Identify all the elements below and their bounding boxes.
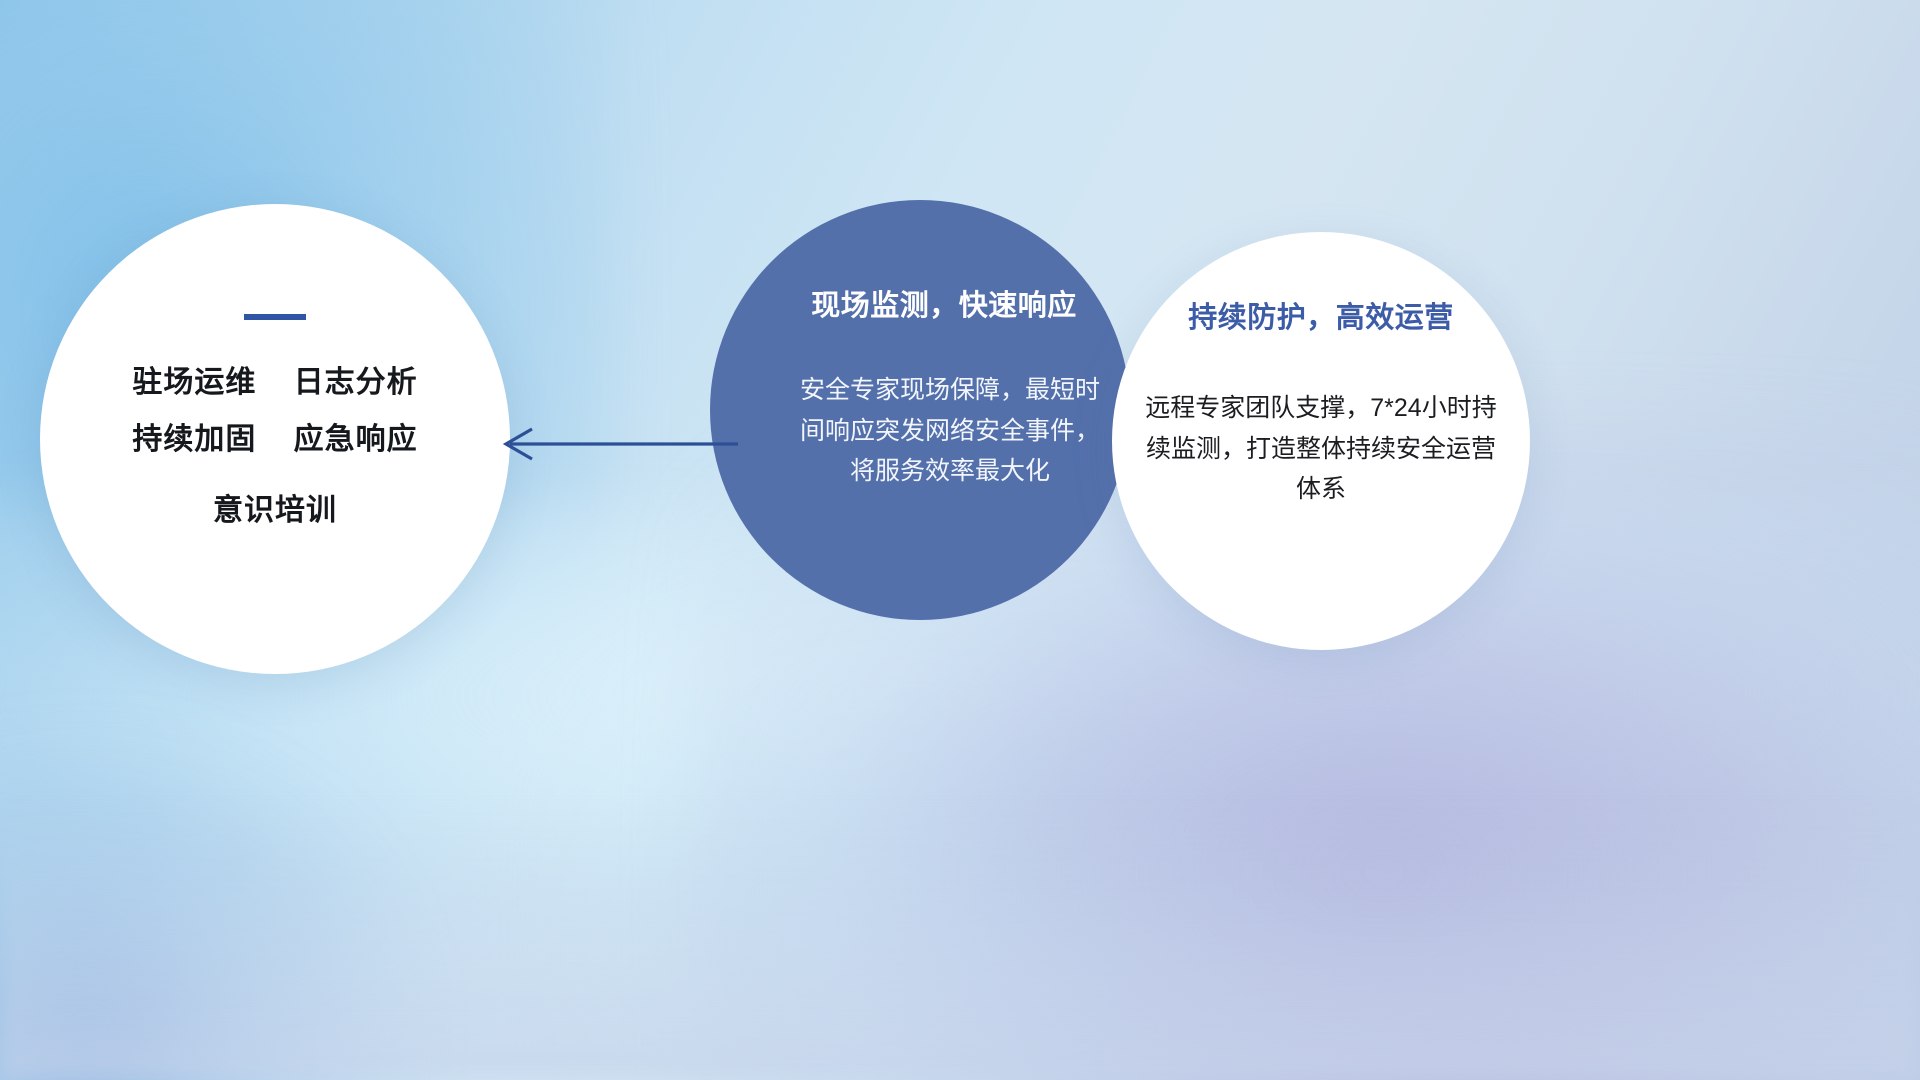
middle-onsite-circle[interactable]: 现场监测，快速响应 安全专家现场保障，最短时间响应突发网络安全事件，将服务效率最…	[710, 200, 1130, 620]
middle-circle-title: 现场监测，快速响应	[811, 282, 1077, 324]
left-capability-list: 驻场运维 日志分析 持续加固 应急响应 意识培训	[132, 366, 417, 527]
horizontal-dash-icon	[244, 314, 306, 320]
right-circle-body: 远程专家团队支撑，7*24小时持续监测，打造整体持续安全运营体系	[1141, 388, 1501, 510]
diagram-stage: 驻场运维 日志分析 持续加固 应急响应 意识培训 现场监测，快速响应 安全专家现…	[0, 0, 1920, 1080]
left-capability-circle[interactable]: 驻场运维 日志分析 持续加固 应急响应 意识培训	[40, 204, 510, 674]
right-operations-circle[interactable]: 持续防护，高效运营 远程专家团队支撑，7*24小时持续监测，打造整体持续安全运营…	[1112, 232, 1530, 650]
middle-circle-body: 安全专家现场保障，最短时间响应突发网络安全事件，将服务效率最大化	[800, 370, 1100, 492]
list-item: 意识培训	[132, 494, 417, 527]
list-item: 持续加固 应急响应	[132, 423, 417, 456]
right-circle-title: 持续防护，高效运营	[1188, 294, 1454, 336]
list-item: 驻场运维 日志分析	[132, 366, 417, 399]
